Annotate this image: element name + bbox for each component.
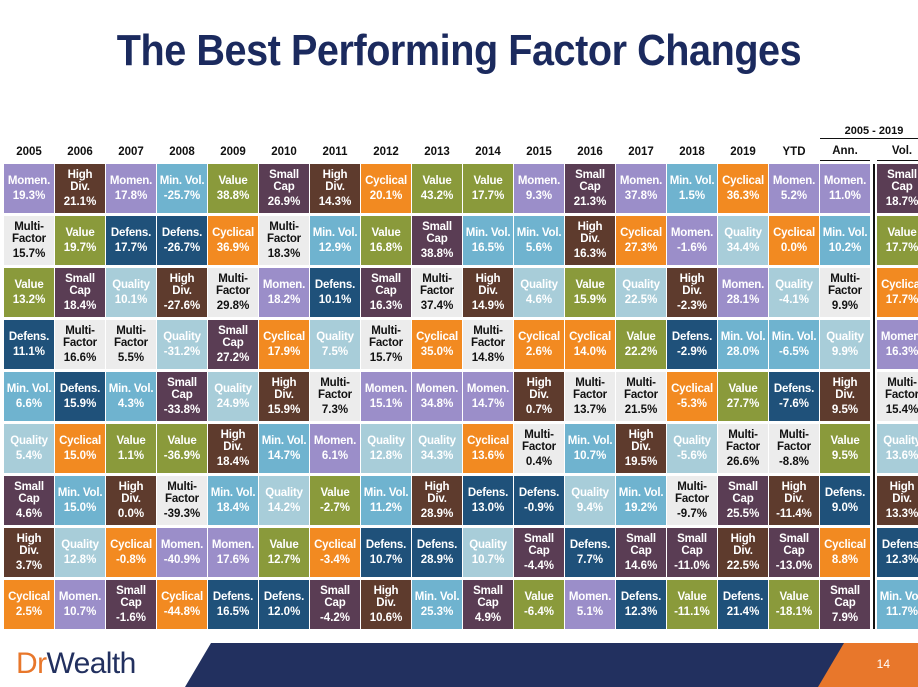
cell-factor-name: Multi-Factor <box>624 377 658 401</box>
cell-value: 17.7% <box>115 242 148 255</box>
table-cell: Cyclical15.0% <box>55 424 105 473</box>
cell-factor-name: Multi-Factor <box>63 325 97 349</box>
cell-factor-name: SmallCap <box>14 481 44 505</box>
cell-value: 1.5% <box>679 190 705 203</box>
table-cell: Defens.-0.9% <box>514 476 564 525</box>
cell-value: 10.7% <box>472 554 505 567</box>
cell-factor-name: HighDiv. <box>629 429 654 453</box>
table-cell: SmallCap27.2% <box>208 320 258 369</box>
table-cell: Defens.28.9% <box>412 528 462 577</box>
table-cell: Defens.13.0% <box>463 476 513 525</box>
cell-value: 25.3% <box>421 606 454 619</box>
table-cell: Quality13.6% <box>877 424 918 473</box>
cell-factor-name: HighDiv. <box>68 169 93 193</box>
cell-value: -11.1% <box>674 606 710 619</box>
cell-factor-name: SmallCap <box>422 221 452 245</box>
cell-value: 6.6% <box>16 398 42 411</box>
column-divider <box>871 164 877 632</box>
table-cell: Min. Vol.10.2% <box>820 216 870 265</box>
factor-performance-table: 2005 - 2019 2005200620072008200920102011… <box>4 126 914 632</box>
table-cell: Value-36.9% <box>157 424 207 473</box>
table-cell: Min. Vol.14.7% <box>259 424 309 473</box>
table-cell: HighDiv.14.9% <box>463 268 513 317</box>
cell-value: 10.7% <box>64 606 97 619</box>
cell-factor-name: SmallCap <box>473 585 503 609</box>
cell-value: 0.7% <box>526 404 552 417</box>
cell-value: 11.0% <box>829 190 861 203</box>
table-cell: Min. Vol.6.6% <box>4 372 54 421</box>
cell-factor-name: HighDiv. <box>170 273 195 297</box>
cell-factor-name: Min. Vol. <box>415 591 460 604</box>
table-cell: SmallCap-4.4% <box>514 528 564 577</box>
cell-value: 10.7% <box>370 554 403 567</box>
cell-factor-name: Value <box>167 435 196 448</box>
cell-value: 17.7% <box>886 242 918 255</box>
cell-value: 14.9% <box>472 300 505 313</box>
cell-value: 14.6% <box>625 560 658 573</box>
table-cell: Momen.15.1% <box>361 372 411 421</box>
table-cell: Multi-Factor5.5% <box>106 320 156 369</box>
table-cell: HighDiv.19.5% <box>616 424 666 473</box>
cell-value: 0.0% <box>118 508 144 521</box>
cell-value: 4.9% <box>475 612 501 625</box>
table-cell: Momen.17.8% <box>106 164 156 213</box>
cell-factor-name: Min. Vol. <box>772 331 817 344</box>
cell-factor-name: Value <box>473 175 502 188</box>
cell-factor-name: Multi-Factor <box>420 273 454 297</box>
column-header-2018: 2018 <box>667 145 717 161</box>
cell-factor-name: SmallCap <box>677 533 707 557</box>
cell-factor-name: Quality <box>367 435 405 448</box>
table-cell: Multi-Factor7.3% <box>310 372 360 421</box>
cell-value: -5.3% <box>677 398 707 411</box>
table-cell: Multi-Factor15.4% <box>877 372 918 421</box>
cell-factor-name: Cyclical <box>722 175 764 188</box>
cell-value: 27.7% <box>727 398 760 411</box>
table-cell: HighDiv.16.3% <box>565 216 615 265</box>
column-header-2006: 2006 <box>55 145 105 161</box>
cell-factor-name: Multi-Factor <box>828 273 862 297</box>
cell-value: -8.8% <box>779 456 809 469</box>
cell-factor-name: Cyclical <box>212 227 254 240</box>
cell-factor-name: Cyclical <box>8 591 50 604</box>
table-cell: Min. Vol.18.4% <box>208 476 258 525</box>
cell-factor-name: Multi-Factor <box>318 377 352 401</box>
table-cell: Min. Vol.11.7% <box>877 580 918 629</box>
page-number: 14 <box>877 657 890 671</box>
cell-factor-name: Cyclical <box>518 331 560 344</box>
cell-value: -3.4% <box>320 554 350 567</box>
cell-factor-name: Value <box>677 591 706 604</box>
table-cell: Quality-5.6% <box>667 424 717 473</box>
cell-value: 37.8% <box>625 190 658 203</box>
cell-value: 10.1% <box>115 294 148 307</box>
table-column-2012: Cyclical20.1%Value16.8%SmallCap16.3%Mult… <box>361 164 411 632</box>
table-cell: Value13.2% <box>4 268 54 317</box>
table-cell: Min. Vol.11.2% <box>361 476 411 525</box>
table-cell: Quality34.3% <box>412 424 462 473</box>
cell-value: -26.7% <box>164 242 200 255</box>
cell-factor-name: Momen. <box>773 175 815 188</box>
cell-factor-name: Quality <box>214 383 252 396</box>
cell-value: -40.9% <box>164 554 200 567</box>
cell-factor-name: HighDiv. <box>680 273 705 297</box>
table-column-2016: SmallCap21.3%HighDiv.16.3%Value15.9%Cycl… <box>565 164 615 632</box>
cell-factor-name: Momen. <box>722 279 764 292</box>
cell-factor-name: Min. Vol. <box>109 383 154 396</box>
cell-value: 21.1% <box>64 196 97 209</box>
cell-factor-name: SmallCap <box>116 585 146 609</box>
table-column-ann: Momen.11.0%Min. Vol.10.2%Multi-Factor9.9… <box>820 164 870 632</box>
table-cell: Defens.-2.9% <box>667 320 717 369</box>
cell-factor-name: Cyclical <box>263 331 305 344</box>
column-header-2007: 2007 <box>106 145 156 161</box>
cell-value: 37.4% <box>421 300 454 313</box>
cell-factor-name: Quality <box>673 435 711 448</box>
table-cell: SmallCap18.4% <box>55 268 105 317</box>
cell-factor-name: Multi-Factor <box>726 429 760 453</box>
cell-value: 19.7% <box>64 242 97 255</box>
column-header-2015: 2015 <box>514 145 564 161</box>
cell-value: 5.6% <box>526 242 552 255</box>
table-cell: Min. Vol.15.0% <box>55 476 105 525</box>
drwealth-logo: DrWealth <box>16 647 136 681</box>
cell-factor-name: Defens. <box>570 539 610 552</box>
table-cell: Cyclical0.0% <box>769 216 819 265</box>
cell-value: 26.9% <box>268 196 301 209</box>
cell-factor-name: Value <box>524 591 553 604</box>
cell-value: 19.3% <box>13 190 46 203</box>
cell-factor-name: Momen. <box>365 383 407 396</box>
cell-factor-name: Cyclical <box>161 591 203 604</box>
cell-factor-name: SmallCap <box>887 169 917 193</box>
table-cell: Multi-Factor0.4% <box>514 424 564 473</box>
table-cell: Cyclical2.6% <box>514 320 564 369</box>
cell-value: 10.1% <box>319 294 352 307</box>
span-header-row: 2005 - 2019 <box>4 126 914 139</box>
table-cell: Value43.2% <box>412 164 462 213</box>
table-cell: Multi-Factor-9.7% <box>667 476 717 525</box>
cell-factor-name: Min. Vol. <box>880 591 918 604</box>
table-cell: Multi-Factor15.7% <box>4 216 54 265</box>
cell-value: 4.6% <box>526 294 552 307</box>
table-column-2007: Momen.17.8%Defens.17.7%Quality10.1%Multi… <box>106 164 156 632</box>
cell-factor-name: Multi-Factor <box>522 429 556 453</box>
cell-value: -1.6% <box>677 242 707 255</box>
cell-value: -18.1% <box>776 606 812 619</box>
cell-value: 0.4% <box>526 456 552 469</box>
table-cell: Value17.7% <box>463 164 513 213</box>
cell-factor-name: Multi-Factor <box>165 481 199 505</box>
cell-factor-name: Value <box>728 383 757 396</box>
cell-factor-name: Multi-Factor <box>114 325 148 349</box>
column-header-vol: Vol. <box>877 144 918 161</box>
table-cell: Value12.7% <box>259 528 309 577</box>
table-cell: SmallCap-33.8% <box>157 372 207 421</box>
cell-factor-name: SmallCap <box>167 377 197 401</box>
cell-value: 17.7% <box>886 294 918 307</box>
table-cell: Quality22.5% <box>616 268 666 317</box>
cell-value: 38.8% <box>421 248 454 261</box>
cell-factor-name: Min. Vol. <box>568 435 613 448</box>
cell-factor-name: HighDiv. <box>425 481 450 505</box>
table-cell: Multi-Factor-8.8% <box>769 424 819 473</box>
cell-factor-name: Quality <box>10 435 48 448</box>
column-header-2017: 2017 <box>616 145 666 161</box>
cell-factor-name: Momen. <box>416 383 458 396</box>
cell-value: 13.6% <box>886 450 918 463</box>
cell-value: 16.8% <box>370 242 403 255</box>
cell-value: 22.2% <box>625 346 658 359</box>
cell-factor-name: Momen. <box>671 227 713 240</box>
cell-value: 14.2% <box>268 502 301 515</box>
cell-factor-name: Multi-Factor <box>369 325 403 349</box>
table-cell: Cyclical27.3% <box>616 216 666 265</box>
table-cell: Cyclical17.7% <box>877 268 918 317</box>
cell-value: -4.2% <box>320 612 350 625</box>
cell-factor-name: Value <box>14 279 43 292</box>
table-cell: Defens.10.7% <box>361 528 411 577</box>
table-cell: Value38.8% <box>208 164 258 213</box>
cell-value: 16.3% <box>574 248 607 261</box>
table-column-2015: Momen.9.3%Min. Vol.5.6%Quality4.6%Cyclic… <box>514 164 564 632</box>
table-cell: Value1.1% <box>106 424 156 473</box>
table-grid: Momen.19.3%Multi-Factor15.7%Value13.2%De… <box>4 164 914 632</box>
table-cell: SmallCap4.6% <box>4 476 54 525</box>
table-cell: Multi-Factor18.3% <box>259 216 309 265</box>
cell-value: 7.9% <box>832 612 858 625</box>
cell-value: 9.0% <box>832 502 858 515</box>
table-cell: SmallCap21.3% <box>565 164 615 213</box>
cell-factor-name: SmallCap <box>779 533 809 557</box>
cell-value: 15.4% <box>886 404 918 417</box>
cell-value: 20.1% <box>370 190 403 203</box>
cell-value: -27.6% <box>164 300 200 313</box>
cell-factor-name: Cyclical <box>314 539 356 552</box>
cell-value: -0.9% <box>524 502 554 515</box>
cell-value: -11.0% <box>674 560 710 573</box>
table-cell: Defens.12.3% <box>877 528 918 577</box>
cell-factor-name: HighDiv. <box>119 481 144 505</box>
cell-factor-name: Momen. <box>161 539 203 552</box>
cell-factor-name: SmallCap <box>575 169 605 193</box>
table-cell: SmallCap25.5% <box>718 476 768 525</box>
cell-value: 19.5% <box>625 456 658 469</box>
table-cell: Momen.17.6% <box>208 528 258 577</box>
cell-value: 13.7% <box>574 404 607 417</box>
table-cell: HighDiv.28.9% <box>412 476 462 525</box>
cell-value: 19.2% <box>625 502 658 515</box>
cell-factor-name: Multi-Factor <box>885 377 918 401</box>
cell-value: -33.8% <box>164 404 200 417</box>
table-column-2011: HighDiv.14.3%Min. Vol.12.9%Defens.10.1%Q… <box>310 164 360 632</box>
table-cell: Value-2.7% <box>310 476 360 525</box>
column-header-2013: 2013 <box>412 145 462 161</box>
table-cell: Quality4.6% <box>514 268 564 317</box>
cell-factor-name: Momen. <box>824 175 866 188</box>
logo-dr-text: Dr <box>16 647 46 680</box>
cell-factor-name: Defens. <box>621 591 661 604</box>
table-cell: HighDiv.9.5% <box>820 372 870 421</box>
table-cell: HighDiv.-11.4% <box>769 476 819 525</box>
cell-factor-name: Momen. <box>467 383 509 396</box>
table-cell: Defens.21.4% <box>718 580 768 629</box>
table-cell: Quality12.8% <box>361 424 411 473</box>
table-column-2018: Min. Vol.1.5%Momen.-1.6%HighDiv.-2.3%Def… <box>667 164 717 632</box>
cell-factor-name: Quality <box>826 331 864 344</box>
table-cell: Quality10.7% <box>463 528 513 577</box>
cell-value: 25.5% <box>727 508 760 521</box>
cell-factor-name: HighDiv. <box>731 533 756 557</box>
table-cell: Cyclical-3.4% <box>310 528 360 577</box>
table-cell: HighDiv.14.3% <box>310 164 360 213</box>
table-cell: Min. Vol.-6.5% <box>769 320 819 369</box>
cell-factor-name: SmallCap <box>371 273 401 297</box>
cell-factor-name: Min. Vol. <box>517 227 562 240</box>
cell-value: -2.7% <box>320 502 350 515</box>
cell-factor-name: Defens. <box>60 383 100 396</box>
cell-factor-name: Momen. <box>620 175 662 188</box>
cell-value: 7.5% <box>322 346 348 359</box>
cell-factor-name: Defens. <box>9 331 49 344</box>
column-header-2008: 2008 <box>157 145 207 161</box>
cell-factor-name: Quality <box>316 331 354 344</box>
cell-value: 11.1% <box>13 346 45 359</box>
column-header-2005: 2005 <box>4 145 54 161</box>
cell-factor-name: Value <box>320 487 349 500</box>
table-cell: Defens.15.9% <box>55 372 105 421</box>
table-cell: Momen.16.3% <box>877 320 918 369</box>
table-cell: Quality5.4% <box>4 424 54 473</box>
table-column-2008: Min. Vol.-25.7%Defens.-26.7%HighDiv.-27.… <box>157 164 207 632</box>
cell-value: 34.3% <box>421 450 454 463</box>
cell-value: -44.8% <box>164 606 200 619</box>
cell-factor-name: Min. Vol. <box>211 487 256 500</box>
cell-factor-name: Min. Vol. <box>262 435 307 448</box>
cell-factor-name: Value <box>626 331 655 344</box>
cell-value: 27.3% <box>625 242 658 255</box>
table-cell: Cyclical8.8% <box>820 528 870 577</box>
cell-factor-name: Cyclical <box>671 383 713 396</box>
cell-factor-name: Min. Vol. <box>58 487 103 500</box>
table-cell: Cyclical-5.3% <box>667 372 717 421</box>
cell-value: 5.1% <box>577 606 603 619</box>
cell-value: 27.2% <box>217 352 250 365</box>
cell-factor-name: HighDiv. <box>782 481 807 505</box>
cell-factor-name: Cyclical <box>365 175 407 188</box>
cell-value: 7.7% <box>577 554 603 567</box>
span-header-2005-2019: 2005 - 2019 <box>820 126 918 139</box>
cell-value: 6.1% <box>322 450 348 463</box>
cell-factor-name: Defens. <box>111 227 151 240</box>
cell-value: 24.9% <box>217 398 250 411</box>
cell-factor-name: Value <box>116 435 145 448</box>
cell-value: 18.4% <box>217 502 250 515</box>
table-cell: Min. Vol.10.7% <box>565 424 615 473</box>
cell-factor-name: SmallCap <box>269 169 299 193</box>
cell-factor-name: Defens. <box>468 487 508 500</box>
table-cell: Multi-Factor14.8% <box>463 320 513 369</box>
cell-factor-name: Quality <box>163 331 201 344</box>
cell-factor-name: Quality <box>571 487 609 500</box>
cell-factor-name: Min. Vol. <box>160 175 205 188</box>
table-cell: Multi-Factor15.7% <box>361 320 411 369</box>
cell-value: 21.5% <box>625 404 658 417</box>
table-cell: Multi-Factor9.9% <box>820 268 870 317</box>
cell-factor-name: HighDiv. <box>272 377 297 401</box>
cell-factor-name: HighDiv. <box>221 429 246 453</box>
table-cell: Cyclical13.6% <box>463 424 513 473</box>
cell-value: 21.3% <box>574 196 607 209</box>
table-column-2005: Momen.19.3%Multi-Factor15.7%Value13.2%De… <box>4 164 54 632</box>
cell-value: -39.3% <box>164 508 200 521</box>
cell-value: 28.0% <box>727 346 760 359</box>
table-cell: Momen.18.2% <box>259 268 309 317</box>
cell-factor-name: Value <box>887 227 916 240</box>
cell-factor-name: SmallCap <box>218 325 248 349</box>
table-cell: HighDiv.-27.6% <box>157 268 207 317</box>
table-cell: Min. Vol.19.2% <box>616 476 666 525</box>
table-cell: Quality24.9% <box>208 372 258 421</box>
table-cell: Quality7.5% <box>310 320 360 369</box>
cell-factor-name: Defens. <box>723 591 763 604</box>
cell-value: -2.3% <box>677 300 707 313</box>
cell-value: 12.0% <box>268 606 301 619</box>
cell-value: -6.5% <box>779 346 809 359</box>
cell-factor-name: Defens. <box>417 539 457 552</box>
cell-value: 17.8% <box>115 190 148 203</box>
cell-factor-name: Multi-Factor <box>777 429 811 453</box>
table-cell: Quality9.9% <box>820 320 870 369</box>
cell-factor-name: Defens. <box>774 383 814 396</box>
cell-value: 16.3% <box>886 346 918 359</box>
table-cell: SmallCap26.9% <box>259 164 309 213</box>
cell-factor-name: SmallCap <box>320 585 350 609</box>
cell-factor-name: SmallCap <box>524 533 554 557</box>
cell-factor-name: Momen. <box>881 331 918 344</box>
column-header-2011: 2011 <box>310 145 360 161</box>
column-header-2010: 2010 <box>259 145 309 161</box>
cell-value: 28.9% <box>421 508 454 521</box>
cell-value: 18.4% <box>217 456 250 469</box>
column-header-2012: 2012 <box>361 145 411 161</box>
cell-factor-name: Value <box>575 279 604 292</box>
cell-value: 13.2% <box>13 294 46 307</box>
cell-value: 2.6% <box>526 346 552 359</box>
cell-value: -7.6% <box>779 398 809 411</box>
cell-factor-name: Quality <box>883 435 918 448</box>
cell-factor-name: Defens. <box>315 279 355 292</box>
table-cell: Multi-Factor13.7% <box>565 372 615 421</box>
cell-factor-name: Min. Vol. <box>364 487 409 500</box>
table-cell: Value-6.4% <box>514 580 564 629</box>
table-cell: Momen.14.7% <box>463 372 513 421</box>
cell-value: 9.9% <box>832 346 858 359</box>
column-header-ytd: YTD <box>769 145 819 161</box>
table-column-2017: Momen.37.8%Cyclical27.3%Quality22.5%Valu… <box>616 164 666 632</box>
cell-value: -5.6% <box>677 450 707 463</box>
cell-factor-name: Cyclical <box>620 227 662 240</box>
cell-value: 15.9% <box>574 294 607 307</box>
cell-factor-name: Cyclical <box>824 539 866 552</box>
cell-factor-name: Cyclical <box>59 435 101 448</box>
table-cell: HighDiv.-2.3% <box>667 268 717 317</box>
table-cell: HighDiv.3.7% <box>4 528 54 577</box>
table-cell: HighDiv.22.5% <box>718 528 768 577</box>
cell-factor-name: Momen. <box>110 175 152 188</box>
cell-value: 12.8% <box>64 554 97 567</box>
cell-factor-name: Defens. <box>672 331 712 344</box>
